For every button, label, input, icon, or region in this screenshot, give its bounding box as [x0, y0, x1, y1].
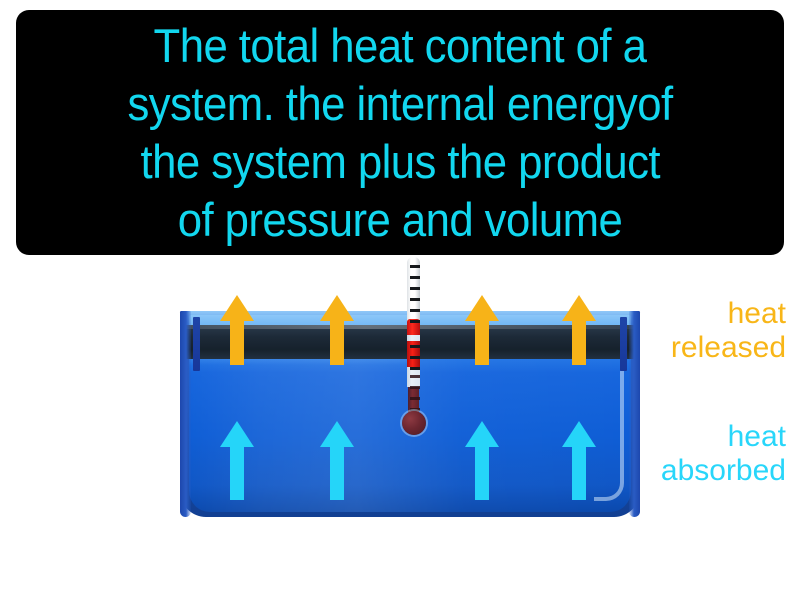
arrow-shaft [330, 321, 344, 365]
tank-post-left [193, 317, 200, 371]
definition-banner: The total heat content of a system. the … [16, 10, 784, 255]
arrow-head-icon [562, 295, 596, 321]
heat-released-label-line1: heat [671, 297, 786, 331]
thermometer-scale-mid [407, 345, 420, 370]
arrow-shaft [475, 321, 489, 365]
tank-rail-right [629, 311, 640, 517]
definition-line-1: The total heat content of a [154, 17, 647, 75]
arrow-shaft [230, 321, 244, 365]
heat-released-arrow [220, 295, 254, 365]
heat-absorbed-arrow [320, 421, 354, 500]
tank-post-right [620, 317, 627, 371]
heat-released-arrow [562, 295, 596, 365]
heat-exchange-diagram: heat released heat absorbed [0, 255, 800, 600]
arrow-shaft [330, 447, 344, 500]
heat-absorbed-arrow [220, 421, 254, 500]
heat-released-label: heat released [671, 297, 786, 365]
arrow-head-icon [220, 421, 254, 447]
heat-absorbed-label: heat absorbed [661, 420, 786, 488]
arrow-shaft [572, 447, 586, 500]
arrow-head-icon [465, 421, 499, 447]
arrow-head-icon [465, 295, 499, 321]
heat-absorbed-label-line1: heat [661, 420, 786, 454]
definition-line-2: system. the internal energyof [127, 75, 672, 133]
arrow-shaft [230, 447, 244, 500]
tank-rail-left [180, 311, 191, 517]
thermometer-bulb [402, 411, 426, 435]
arrow-shaft [572, 321, 586, 365]
thermometer-icon [402, 257, 424, 457]
heat-released-arrow [320, 295, 354, 365]
thermometer-scale-lower [407, 375, 420, 411]
heat-absorbed-label-line2: absorbed [661, 454, 786, 488]
heat-released-label-line2: released [671, 331, 786, 365]
arrow-head-icon [562, 421, 596, 447]
arrow-shaft [475, 447, 489, 500]
definition-line-4: of pressure and volume [178, 191, 623, 249]
heat-absorbed-arrow [562, 421, 596, 500]
tank-inner-highlight [594, 371, 624, 501]
thermometer-scale-upper [407, 265, 420, 323]
arrow-head-icon [320, 295, 354, 321]
arrow-head-icon [320, 421, 354, 447]
definition-line-3: the system plus the product [140, 133, 659, 191]
heat-released-arrow [465, 295, 499, 365]
arrow-head-icon [220, 295, 254, 321]
heat-absorbed-arrow [465, 421, 499, 500]
